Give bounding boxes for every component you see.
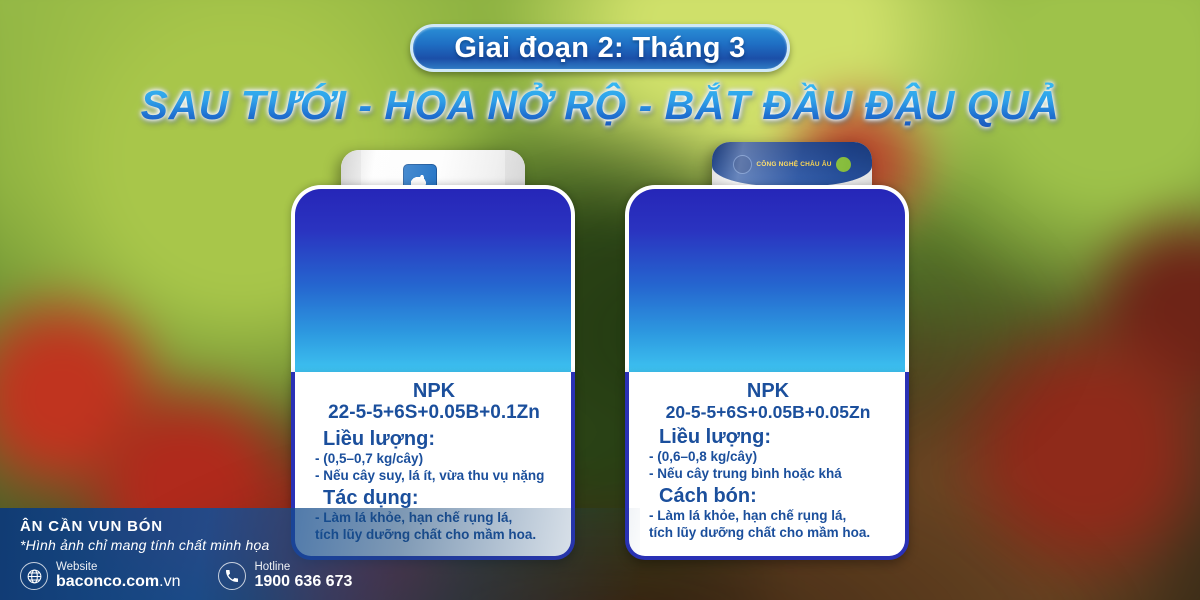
product-formula: 22-5-5+6S+0.05B+0.1Zn	[307, 402, 561, 425]
website-contact[interactable]: Website baconco.com.vn	[20, 561, 180, 591]
dosage-bullet-1: - (0,6–0,8 kg/cây)	[649, 449, 895, 465]
hotline-value: 1900 636 673	[254, 573, 352, 591]
product-formula: 20-5-5+6S+0.05B+0.05Zn	[641, 402, 895, 423]
product-label: NPK	[307, 380, 561, 402]
website-value: baconco.com.vn	[56, 573, 180, 591]
effect-title: Tác dụng:	[323, 487, 561, 510]
globe-icon	[20, 562, 48, 590]
eu-banner-label: CÔNG NGHỆ CHÂU ÂU	[756, 161, 831, 168]
phone-icon	[218, 562, 246, 590]
hotline-label: Hotline	[254, 561, 352, 573]
dosage-title: Liều lượng:	[323, 428, 561, 451]
product-card-right-body: NPK 20-5-5+6S+0.05B+0.05Zn Liều lượng: -…	[625, 372, 909, 560]
company-slogan: ÂN CẦN VUN BÓN	[20, 518, 640, 535]
product-card-right: NPK 20-5-5+6S+0.05B+0.05Zn Liều lượng: -…	[625, 185, 909, 560]
hotline-contact[interactable]: Hotline 1900 636 673	[218, 561, 352, 591]
application-bullet-2: tích lũy dưỡng chất cho mầm hoa.	[649, 525, 895, 541]
website-label: Website	[56, 561, 180, 573]
dosage-bullet-2: - Nếu cây trung bình hoặc khá	[649, 466, 895, 482]
dosage-title: Liều lượng:	[659, 426, 895, 449]
application-bullet-1: - Làm lá khỏe, hạn chế rụng lá,	[649, 508, 895, 524]
footer: ÂN CẦN VUN BÓN *Hình ảnh chỉ mang tính c…	[0, 508, 640, 600]
application-title: Cách bón:	[659, 485, 895, 508]
page-title: SAU TƯỚI - HOA NỞ RỘ - BẮT ĐẦU ĐẬU QUẢ	[0, 82, 1200, 129]
product-card-right-header	[625, 185, 909, 375]
product-card-left: NPK 22-5-5+6S+0.05B+0.1Zn Liều lượng: - …	[291, 185, 575, 560]
stage-badge: Giai đoạn 2: Tháng 3	[410, 24, 790, 72]
eu-stars-icon	[733, 155, 752, 174]
product-card-left-header	[291, 185, 575, 375]
dosage-bullet-2: - Nếu cây suy, lá ít, vừa thu vụ nặng	[315, 468, 561, 484]
disclaimer-note: *Hình ảnh chỉ mang tính chất minh họa	[20, 537, 640, 553]
dosage-bullet-1: - (0,5–0,7 kg/cây)	[315, 451, 561, 467]
stage-badge-label: Giai đoạn 2: Tháng 3	[454, 32, 745, 65]
eu-technology-banner: CÔNG NGHỆ CHÂU ÂU	[712, 142, 872, 186]
thumbs-up-icon	[836, 157, 851, 172]
product-label: NPK	[641, 380, 895, 402]
